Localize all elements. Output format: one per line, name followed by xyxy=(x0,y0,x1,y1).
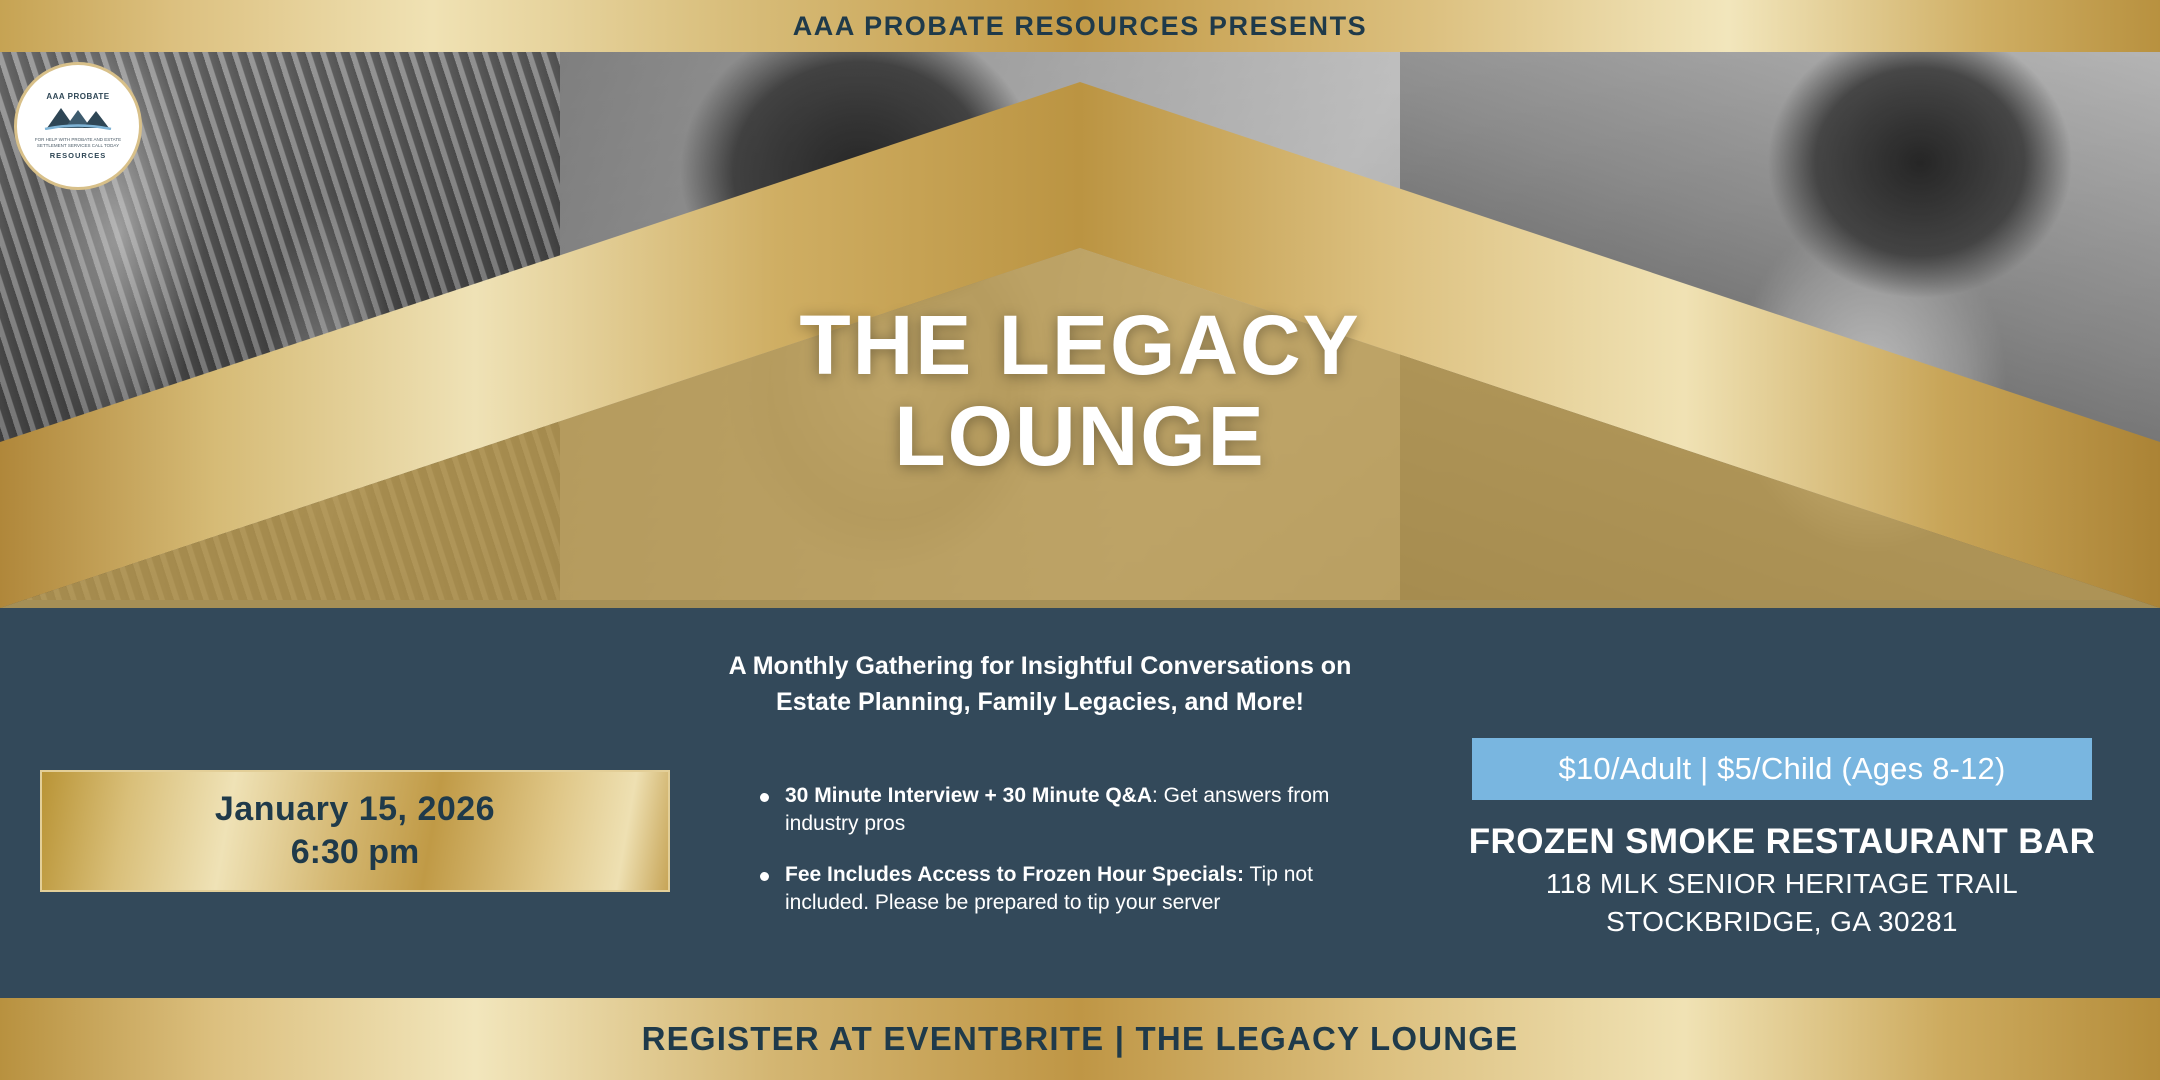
pricing-text: $10/Adult | $5/Child (Ages 8-12) xyxy=(1559,751,2006,787)
venue-address-line1: 118 MLK SENIOR HERITAGE TRAIL xyxy=(1412,868,2152,900)
presenter-text: AAA PROBATE RESOURCES PRESENTS xyxy=(793,11,1368,42)
logo-mountain-icon xyxy=(43,104,113,135)
bullet-dot-icon xyxy=(760,872,769,881)
event-title: THE LEGACY LOUNGE xyxy=(0,300,2160,481)
flyer-canvas: AAA PROBATE RESOURCES PRESENTS AAA PROBA… xyxy=(0,0,2160,1080)
footer-cta-text: REGISTER AT EVENTBRITE | THE LEGACY LOUN… xyxy=(642,1020,1519,1058)
top-banner: AAA PROBATE RESOURCES PRESENTS xyxy=(0,0,2160,52)
pricing-badge: $10/Adult | $5/Child (Ages 8-12) xyxy=(1472,738,2092,800)
list-item-text: 30 Minute Interview + 30 Minute Q&A: Get… xyxy=(785,782,1400,837)
list-item: 30 Minute Interview + 30 Minute Q&A: Get… xyxy=(760,782,1400,837)
list-item-bold: 30 Minute Interview + 30 Minute Q&A xyxy=(785,784,1152,807)
list-item-bold: Fee Includes Access to Frozen Hour Speci… xyxy=(785,863,1244,886)
list-item-text: Fee Includes Access to Frozen Hour Speci… xyxy=(785,861,1400,916)
logo-bottom-text: RESOURCES xyxy=(50,151,107,160)
event-subtitle-line1: A Monthly Gathering for Insightful Conve… xyxy=(560,648,1520,684)
event-date: January 15, 2026 xyxy=(215,790,495,829)
footer-cta-banner[interactable]: REGISTER AT EVENTBRITE | THE LEGACY LOUN… xyxy=(0,998,2160,1080)
event-title-line2: LOUNGE xyxy=(0,391,2160,482)
event-title-line1: THE LEGACY xyxy=(799,298,1360,392)
event-subtitle-line2: Estate Planning, Family Legacies, and Mo… xyxy=(560,684,1520,720)
logo-tagline: FOR HELP WITH PROBATE AND ESTATE SETTLEM… xyxy=(26,137,130,148)
venue-block: FROZEN SMOKE RESTAURANT BAR 118 MLK SENI… xyxy=(1412,822,2152,938)
logo-top-text: AAA PROBATE xyxy=(46,92,109,101)
venue-name: FROZEN SMOKE RESTAURANT BAR xyxy=(1412,822,2152,862)
event-time: 6:30 pm xyxy=(291,833,420,872)
event-date-box: January 15, 2026 6:30 pm xyxy=(40,770,670,892)
bullet-dot-icon xyxy=(760,793,769,802)
event-subtitle: A Monthly Gathering for Insightful Conve… xyxy=(560,648,1520,721)
brand-logo-badge: AAA PROBATE FOR HELP WITH PROBATE AND ES… xyxy=(14,62,142,190)
event-details-list: 30 Minute Interview + 30 Minute Q&A: Get… xyxy=(760,782,1400,941)
list-item: Fee Includes Access to Frozen Hour Speci… xyxy=(760,861,1400,916)
venue-address-line2: STOCKBRIDGE, GA 30281 xyxy=(1412,906,2152,938)
